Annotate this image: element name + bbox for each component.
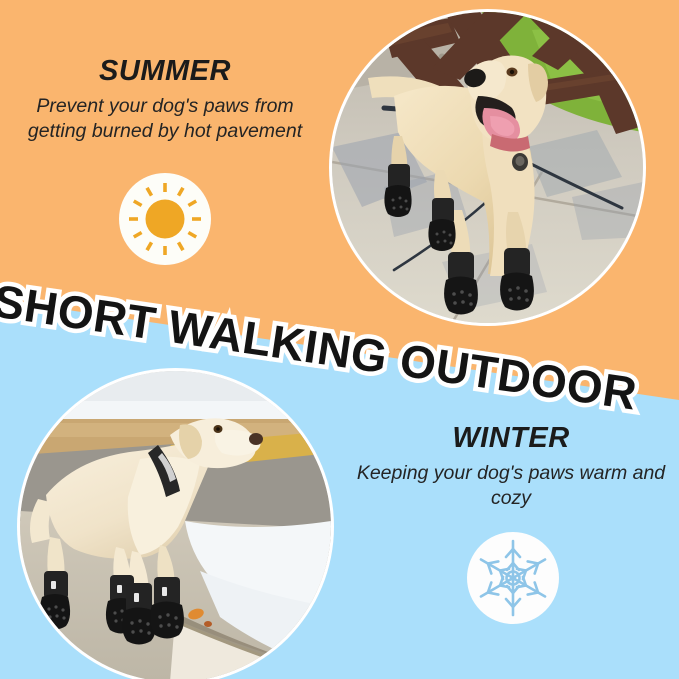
dog-on-snow-illustration (20, 371, 331, 679)
winter-text-block: WINTER Keeping your dog's paws warm and … (352, 423, 670, 511)
winter-description: Keeping your dog's paws warm and cozy (352, 461, 670, 511)
summer-description: Prevent your dog's paws from getting bur… (6, 94, 324, 144)
infographic-canvas: SUMMER Prevent your dog's paws from gett… (0, 0, 679, 679)
summer-text-block: SUMMER Prevent your dog's paws from gett… (6, 56, 324, 144)
snowflake-icon-glyph (467, 532, 559, 624)
dog-on-pavement-photo (332, 12, 643, 323)
summer-title: SUMMER (6, 56, 324, 88)
snowflake-icon (467, 532, 559, 624)
winter-title: WINTER (352, 423, 670, 455)
sun-icon-glyph (119, 173, 211, 265)
dog-on-snow-photo (20, 371, 331, 679)
sun-icon (119, 173, 211, 265)
dog-on-pavement-illustration (332, 12, 643, 323)
